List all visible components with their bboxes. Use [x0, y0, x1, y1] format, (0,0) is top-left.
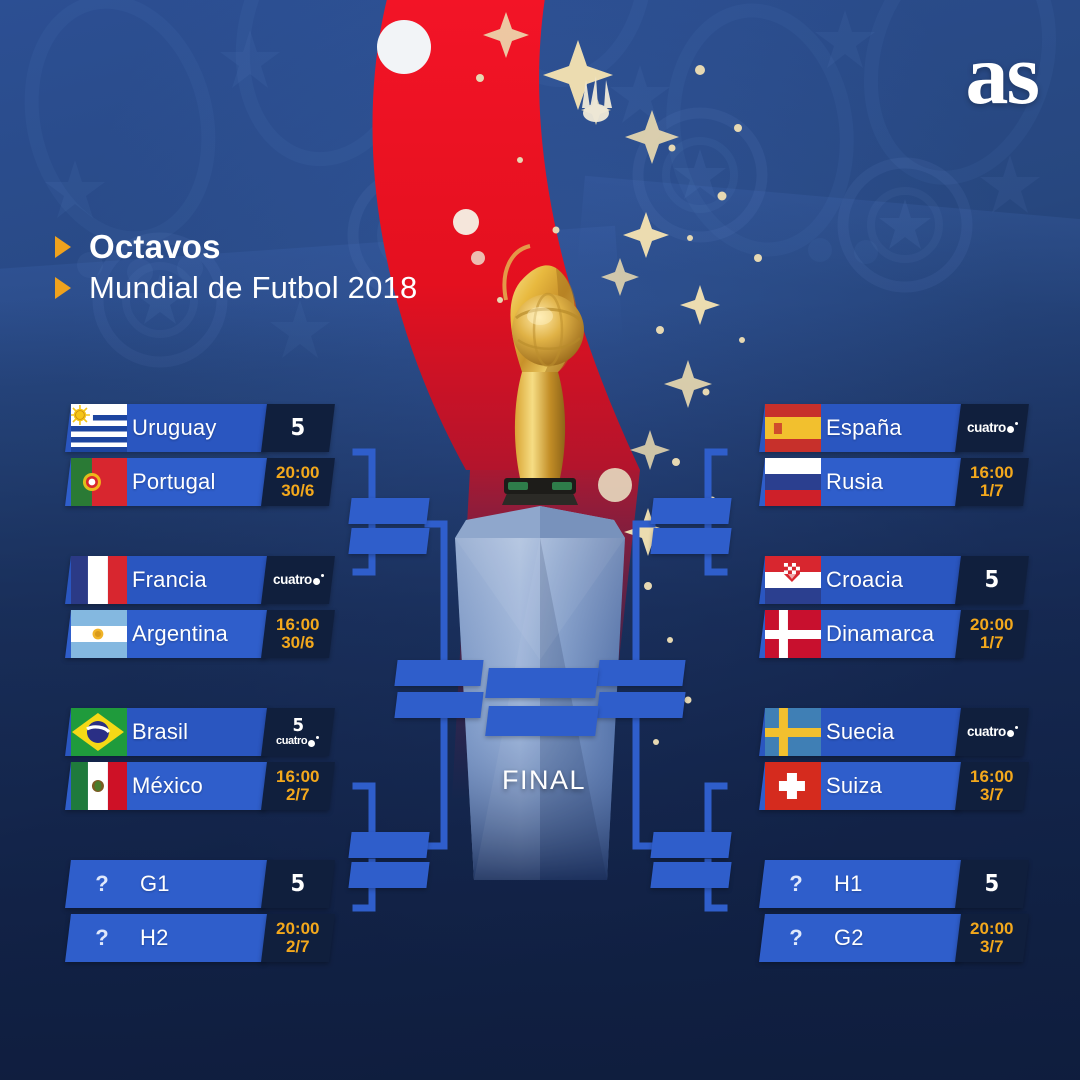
- match-team-row[interactable]: Rusia 16:00 1/7: [762, 458, 1024, 506]
- semifinal-slot-left-top[interactable]: [394, 660, 483, 686]
- team-bar[interactable]: Portugal: [65, 458, 271, 506]
- telecinco-logo-icon: 5: [985, 569, 999, 592]
- team-name: Uruguay: [132, 404, 217, 452]
- kickoff-time: 16:00: [276, 616, 319, 634]
- quarterfinal-slot-left-1-top[interactable]: [348, 498, 429, 524]
- match-team-row[interactable]: Croacia 5: [762, 556, 1024, 604]
- kickoff-time: 16:00: [970, 464, 1013, 482]
- channel-box: cuatro: [955, 404, 1029, 452]
- quarterfinal-slot-right-2-bottom[interactable]: [650, 862, 731, 888]
- team-name: España: [826, 404, 902, 452]
- suecia-flag: [765, 708, 821, 756]
- kickoff-date: 1/7: [980, 634, 1004, 652]
- unknown-team-placeholder-icon: ?: [776, 860, 816, 908]
- match-team-row[interactable]: ? H2 20:00 2/7: [68, 914, 330, 962]
- kickoff-time: 20:00: [276, 464, 319, 482]
- unknown-team-placeholder-icon: ?: [776, 914, 816, 962]
- argentina-flag: [71, 610, 127, 658]
- team-name: H1: [834, 860, 863, 908]
- match-team-row[interactable]: Suiza 16:00 3/7: [762, 762, 1024, 810]
- unknown-team-placeholder-icon: ?: [82, 914, 122, 962]
- channel-box: cuatro: [955, 708, 1029, 756]
- final-label: FINAL: [502, 765, 586, 796]
- kickoff-time: 20:00: [970, 920, 1013, 938]
- match-suecia-suiza[interactable]: Suecia cuatro Suiza 16:00 3/7: [762, 708, 1024, 816]
- suiza-flag: [765, 762, 821, 810]
- espana-flag: [765, 404, 821, 452]
- team-bar[interactable]: ? G1: [65, 860, 271, 908]
- final-slot-top[interactable]: [485, 668, 599, 698]
- kickoff-box: 16:00 3/7: [955, 762, 1029, 810]
- brasil-flag: [71, 708, 127, 756]
- match-team-row[interactable]: Uruguay 5: [68, 404, 330, 452]
- team-name: H2: [140, 914, 169, 962]
- match-team-row[interactable]: Portugal 20:00 30/6: [68, 458, 330, 506]
- kickoff-date: 3/7: [980, 786, 1004, 804]
- dinamarca-flag: [765, 610, 821, 658]
- channel-box: 5: [261, 860, 335, 908]
- uruguay-flag: [71, 404, 127, 452]
- match-brasil-mexico[interactable]: Brasil 5cuatro México 16:00 2/7: [68, 708, 330, 816]
- quarterfinal-slot-left-2-top[interactable]: [348, 832, 429, 858]
- semifinal-slot-left-bottom[interactable]: [394, 692, 483, 718]
- team-bar[interactable]: Argentina: [65, 610, 271, 658]
- telecinco-logo-icon: 5: [291, 417, 305, 440]
- team-name: Francia: [132, 556, 207, 604]
- quarterfinal-slot-left-2-bottom[interactable]: [348, 862, 429, 888]
- team-name: Suecia: [826, 708, 894, 756]
- rusia-flag: [765, 458, 821, 506]
- cuatro-logo-icon: cuatro: [967, 725, 1018, 739]
- francia-flag: [71, 556, 127, 604]
- kickoff-box: 16:00 30/6: [261, 610, 335, 658]
- team-bar[interactable]: ? G2: [759, 914, 965, 962]
- unknown-team-placeholder-icon: ?: [82, 860, 122, 908]
- match-team-row[interactable]: Argentina 16:00 30/6: [68, 610, 330, 658]
- team-bar[interactable]: Suecia: [759, 708, 965, 756]
- channel-logos-group: 5cuatro: [276, 717, 319, 747]
- semifinal-slot-right-bottom[interactable]: [596, 692, 685, 718]
- team-name: México: [132, 762, 203, 810]
- final-slot-bottom[interactable]: [485, 706, 599, 736]
- match-team-row[interactable]: Suecia cuatro: [762, 708, 1024, 756]
- cuatro-logo-icon: cuatro: [967, 421, 1018, 435]
- kickoff-date: 3/7: [980, 938, 1004, 956]
- team-bar[interactable]: México: [65, 762, 271, 810]
- semifinal-slot-right-top[interactable]: [596, 660, 685, 686]
- kickoff-box: 16:00 1/7: [955, 458, 1029, 506]
- channel-box: 5: [955, 860, 1029, 908]
- kickoff-time: 16:00: [970, 768, 1013, 786]
- match-team-row[interactable]: Dinamarca 20:00 1/7: [762, 610, 1024, 658]
- match-team-row[interactable]: Brasil 5cuatro: [68, 708, 330, 756]
- kickoff-date: 2/7: [286, 938, 310, 956]
- team-bar[interactable]: Francia: [65, 556, 271, 604]
- match-team-row[interactable]: ? G1 5: [68, 860, 330, 908]
- match-team-row[interactable]: Francia cuatro: [68, 556, 330, 604]
- quarterfinal-slot-right-1-top[interactable]: [650, 498, 731, 524]
- quarterfinal-slot-right-2-top[interactable]: [650, 832, 731, 858]
- mexico-flag: [71, 762, 127, 810]
- cuatro-logo-icon: cuatro: [276, 736, 319, 747]
- team-name: G1: [140, 860, 170, 908]
- quarterfinal-slot-left-1-bottom[interactable]: [348, 528, 429, 554]
- match-h1-g2[interactable]: ? H1 5 ? G2 20:00 3/7: [762, 860, 1024, 968]
- kickoff-box: 16:00 2/7: [261, 762, 335, 810]
- kickoff-box: 20:00 3/7: [955, 914, 1029, 962]
- team-name: Brasil: [132, 708, 188, 756]
- team-name: Dinamarca: [826, 610, 934, 658]
- team-bar[interactable]: Croacia: [759, 556, 965, 604]
- kickoff-time: 20:00: [276, 920, 319, 938]
- match-uruguay-portugal[interactable]: Uruguay 5 Portugal 20:00 30/6: [68, 404, 330, 512]
- team-bar[interactable]: Dinamarca: [759, 610, 965, 658]
- infographic-stage: as Octavos Mundial de Futbol 2018: [0, 0, 1080, 1080]
- channel-box: 5cuatro: [261, 708, 335, 756]
- cuatro-logo-icon: cuatro: [273, 573, 324, 587]
- quarterfinal-slot-right-1-bottom[interactable]: [650, 528, 731, 554]
- kickoff-date: 30/6: [281, 634, 314, 652]
- kickoff-box: 20:00 1/7: [955, 610, 1029, 658]
- match-team-row[interactable]: ? H1 5: [762, 860, 1024, 908]
- telecinco-logo-icon: 5: [291, 873, 305, 896]
- kickoff-date: 1/7: [980, 482, 1004, 500]
- team-name: Rusia: [826, 458, 883, 506]
- match-team-row[interactable]: España cuatro: [762, 404, 1024, 452]
- kickoff-box: 20:00 30/6: [261, 458, 335, 506]
- match-team-row[interactable]: México 16:00 2/7: [68, 762, 330, 810]
- channel-box: 5: [261, 404, 335, 452]
- team-name: Portugal: [132, 458, 216, 506]
- match-g1-h2[interactable]: ? G1 5 ? H2 20:00 2/7: [68, 860, 330, 968]
- match-espana-rusia[interactable]: España cuatro Rusia 16:00 1/7: [762, 404, 1024, 512]
- team-bar[interactable]: Brasil: [65, 708, 271, 756]
- kickoff-time: 20:00: [970, 616, 1013, 634]
- portugal-flag: [71, 458, 127, 506]
- kickoff-date: 2/7: [286, 786, 310, 804]
- team-bar[interactable]: Uruguay: [65, 404, 271, 452]
- kickoff-box: 20:00 2/7: [261, 914, 335, 962]
- team-bar[interactable]: España: [759, 404, 965, 452]
- telecinco-logo-icon: 5: [293, 717, 304, 735]
- match-team-row[interactable]: ? G2 20:00 3/7: [762, 914, 1024, 962]
- team-name: G2: [834, 914, 864, 962]
- croacia-flag: [765, 556, 821, 604]
- match-francia-argentina[interactable]: Francia cuatro Argentina 16:00 30/6: [68, 556, 330, 664]
- team-name: Suiza: [826, 762, 882, 810]
- telecinco-logo-icon: 5: [985, 873, 999, 896]
- team-name: Croacia: [826, 556, 903, 604]
- team-bar[interactable]: ? H1: [759, 860, 965, 908]
- kickoff-date: 30/6: [281, 482, 314, 500]
- kickoff-time: 16:00: [276, 768, 319, 786]
- team-bar[interactable]: ? H2: [65, 914, 271, 962]
- team-bar[interactable]: Suiza: [759, 762, 965, 810]
- match-croacia-dinamarca[interactable]: Croacia 5 Dinamarca 20:00 1/7: [762, 556, 1024, 664]
- team-bar[interactable]: Rusia: [759, 458, 965, 506]
- team-name: Argentina: [132, 610, 228, 658]
- channel-box: 5: [955, 556, 1029, 604]
- channel-box: cuatro: [261, 556, 335, 604]
